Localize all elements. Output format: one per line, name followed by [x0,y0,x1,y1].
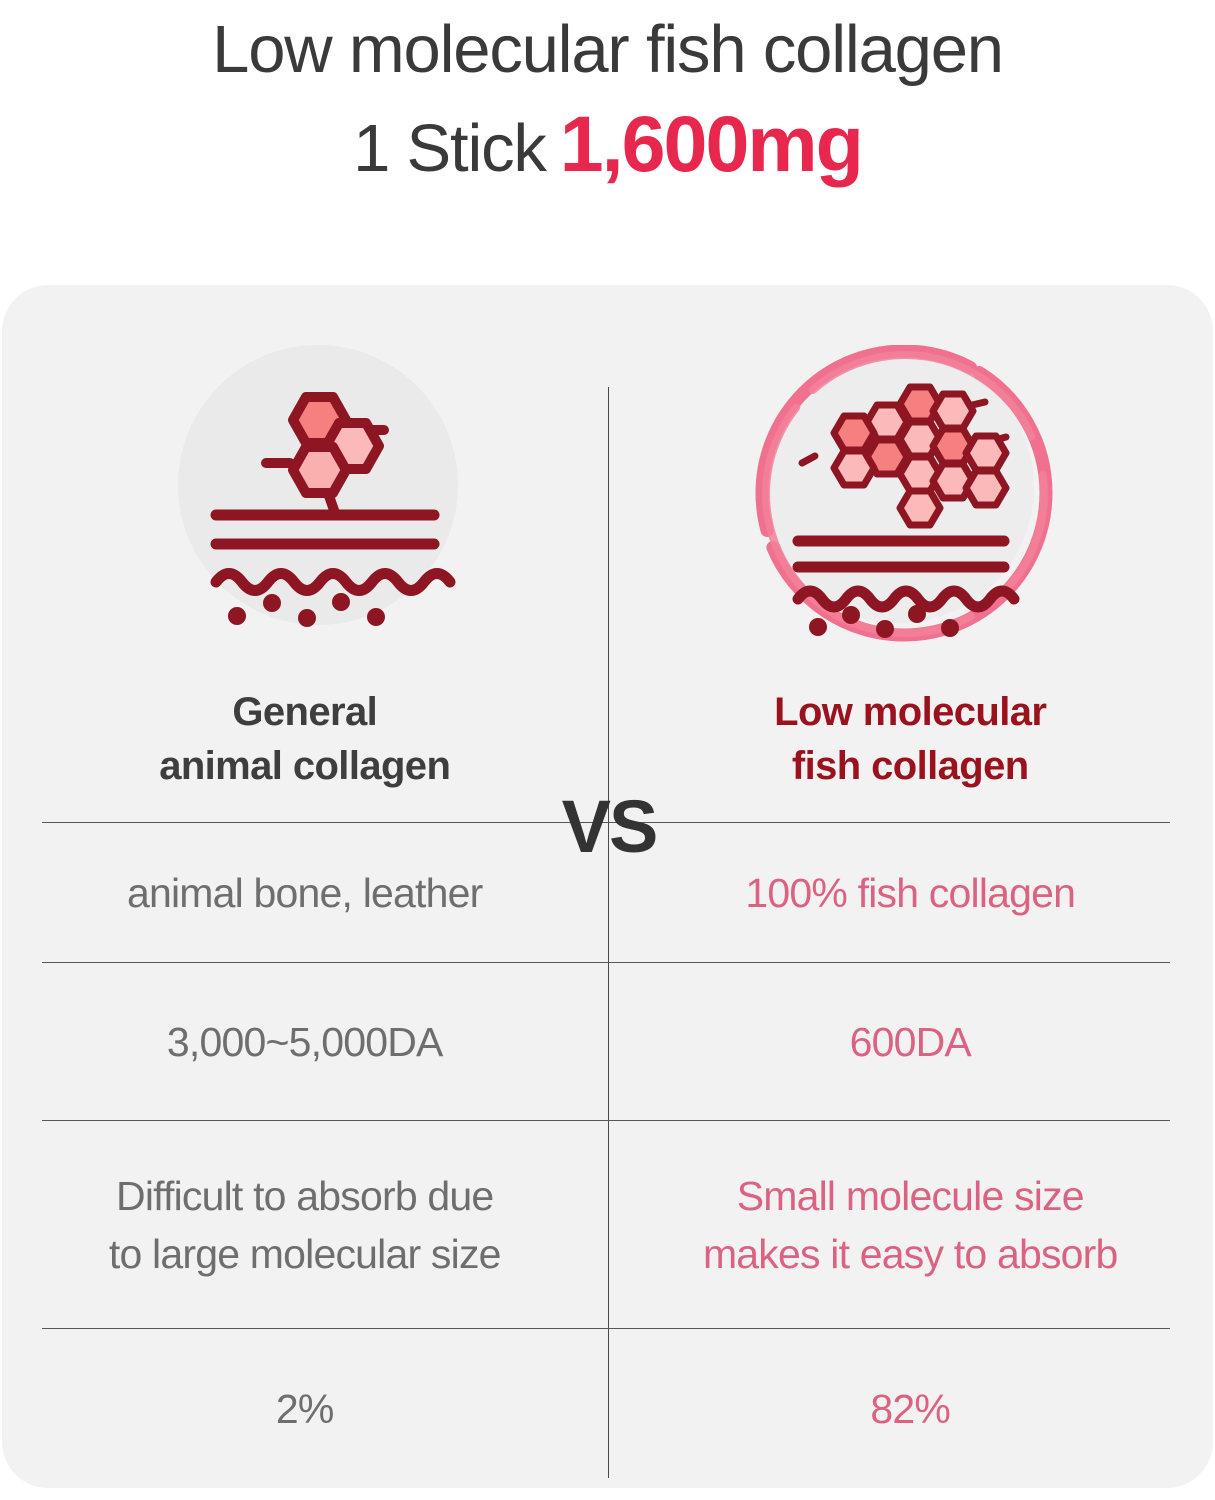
divider-inset-right [1170,1119,1213,1122]
comparison-card: VS General animal collagen Low molecular… [2,285,1213,1488]
table-row: 2% 82% [2,1328,1213,1488]
fish-collagen-icon-cell [754,345,1054,645]
cell-general-absorption: Difficult to absorb due to large molecul… [2,1121,608,1328]
divider-inset-right [1170,1327,1213,1330]
cell-fish-molecular-weight: 600DA [608,963,1214,1120]
cell-general-absorption-rate: 2% [2,1329,608,1488]
headline-dosage-amount: 1,600mg [560,99,862,188]
divider-inset-left [2,1119,42,1122]
general-collagen-icon-cell [178,345,478,645]
column-header-label: Low molecular fish collagen [774,685,1046,793]
column-header-general: General animal collagen [2,655,608,822]
headline-primary-text: Low molecular fish collagen [0,4,1215,96]
vs-badge: VS [534,785,684,869]
cell-general-source: animal bone, leather [2,823,608,962]
cell-general-molecular-weight: 3,000~5,000DA [2,963,608,1120]
cell-fish-source: 100% fish collagen [608,823,1214,962]
headline-secondary-line: 1 Stick1,600mg [0,96,1215,215]
cell-text: 3,000~5,000DA [167,1013,443,1071]
cell-text: 82% [870,1380,950,1438]
table-row: 3,000~5,000DA 600DA [2,962,1213,1120]
comparison-table: General animal collagen Low molecular fi… [2,655,1213,1488]
cell-text: 2% [276,1380,334,1438]
divider-inset-left [2,821,42,824]
infographic-page: Low molecular fish collagen 1 Stick1,600… [0,0,1215,1500]
small-collagen-molecules-on-skin-icon [754,345,1054,645]
large-collagen-molecule-on-skin-icon [178,345,478,645]
cell-text: 600DA [850,1013,971,1071]
cell-text: Difficult to absorb due to large molecul… [109,1167,501,1283]
divider-inset-left [2,1327,42,1330]
cell-text: Small molecule size makes it easy to abs… [703,1167,1118,1283]
column-header-fish: Low molecular fish collagen [608,655,1214,822]
divider-inset-right [1170,821,1213,824]
divider-inset-right [1170,961,1213,964]
cell-fish-absorption: Small molecule size makes it easy to abs… [608,1121,1214,1328]
divider-inset-left [2,961,42,964]
cell-text: 100% fish collagen [745,864,1075,922]
column-header-label: General animal collagen [159,685,450,793]
skin-dots [228,593,385,627]
table-row: Difficult to absorb due to large molecul… [2,1120,1213,1328]
headline-serving-label: 1 Stick [353,111,546,186]
cell-text: animal bone, leather [127,864,483,922]
headline-block: Low molecular fish collagen 1 Stick1,600… [0,0,1215,260]
cell-fish-absorption-rate: 82% [608,1329,1214,1488]
